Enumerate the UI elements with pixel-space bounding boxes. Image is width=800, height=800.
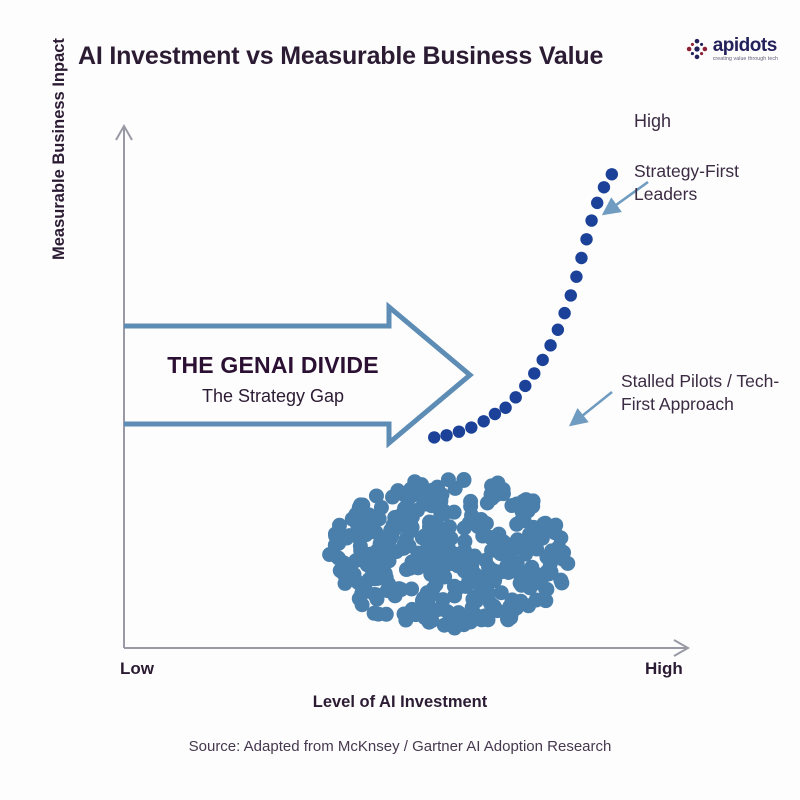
data-point [331, 528, 346, 543]
data-point [518, 547, 533, 562]
data-point [502, 538, 517, 553]
data-point [408, 557, 423, 572]
data-point [333, 563, 348, 578]
data-point [436, 550, 451, 565]
data-point [332, 518, 347, 533]
data-point [510, 532, 525, 547]
data-point [487, 484, 502, 499]
x-axis-title: Level of AI Investment [0, 693, 800, 712]
data-point [488, 564, 503, 579]
data-point [420, 602, 435, 617]
data-point [424, 585, 439, 600]
data-point [399, 562, 414, 577]
data-point [554, 575, 569, 590]
data-point [447, 505, 462, 520]
data-point [349, 507, 364, 522]
data-point [514, 512, 529, 527]
data-point [388, 521, 403, 536]
data-point [353, 497, 368, 512]
data-point [403, 523, 418, 538]
data-point [380, 538, 395, 553]
data-point [452, 550, 467, 565]
data-point [447, 621, 462, 636]
data-point [496, 534, 511, 549]
data-point [348, 553, 363, 568]
data-point [414, 477, 429, 492]
data-point [383, 523, 398, 538]
data-point [471, 519, 486, 534]
data-point [598, 181, 610, 193]
data-point [430, 486, 445, 501]
data-point [540, 564, 555, 579]
data-point [350, 518, 365, 533]
data-point [480, 590, 495, 605]
data-point [433, 493, 448, 508]
data-point [331, 536, 346, 551]
data-point [517, 513, 532, 528]
data-point [536, 354, 548, 366]
data-point [489, 487, 504, 502]
data-point [487, 573, 502, 588]
data-point [397, 501, 412, 516]
data-point [506, 593, 521, 608]
data-point [461, 575, 476, 590]
data-point [483, 563, 498, 578]
data-point [512, 564, 527, 579]
data-point [403, 512, 418, 527]
banner-subtitle: The Strategy Gap [148, 386, 398, 407]
logo-tagline: creating value through tech [713, 57, 778, 62]
data-point [392, 509, 407, 524]
data-point [464, 559, 479, 574]
data-point [448, 555, 463, 570]
data-point [381, 553, 396, 568]
data-point [466, 573, 481, 588]
data-point [362, 572, 377, 587]
data-point [493, 535, 508, 550]
data-point [510, 537, 525, 552]
data-point [338, 576, 353, 591]
data-point [346, 570, 361, 585]
data-point [459, 548, 474, 563]
data-point [428, 548, 443, 563]
annotation-stalled-pilots: Stalled Pilots / Tech-First Approach [621, 370, 796, 416]
data-point [504, 498, 519, 513]
data-point [388, 588, 403, 603]
data-point [339, 531, 354, 546]
x-axis-tick-low: Low [120, 659, 154, 679]
data-point [513, 576, 528, 591]
data-point [504, 606, 519, 621]
data-point [538, 582, 553, 597]
data-point [523, 580, 538, 595]
data-point [328, 528, 343, 543]
data-point [437, 569, 452, 584]
data-point [496, 482, 511, 497]
data-point [500, 612, 515, 627]
data-point [424, 613, 439, 628]
data-point [404, 581, 419, 596]
data-point [410, 546, 425, 561]
data-point [487, 599, 502, 614]
data-point [422, 515, 437, 530]
data-point [535, 521, 550, 536]
data-point [437, 506, 452, 521]
data-point [435, 553, 450, 568]
data-point [422, 519, 437, 534]
data-point [585, 214, 597, 226]
brand-logo: apidots creating value through tech [686, 36, 778, 62]
data-point [367, 606, 382, 621]
data-point [395, 514, 410, 529]
data-point [355, 498, 370, 513]
data-point [478, 553, 493, 568]
data-point [493, 565, 508, 580]
data-point [337, 555, 352, 570]
data-point [426, 581, 441, 596]
data-point [447, 588, 462, 603]
data-point [428, 577, 443, 592]
data-point [385, 490, 400, 505]
data-point [543, 556, 558, 571]
data-point [403, 489, 418, 504]
data-point [512, 596, 527, 611]
data-point [397, 606, 412, 621]
data-point [399, 531, 414, 546]
data-point [431, 526, 446, 541]
data-point [420, 487, 435, 502]
data-point [425, 483, 440, 498]
data-point [424, 560, 439, 575]
data-point [411, 548, 426, 563]
y-axis-tick-high: High [634, 111, 671, 132]
data-point [477, 415, 489, 427]
data-point [456, 473, 471, 488]
data-point [526, 493, 541, 508]
data-point [463, 494, 478, 509]
data-point [378, 566, 393, 581]
data-point [455, 549, 470, 564]
data-point [539, 550, 554, 565]
data-point [502, 558, 517, 573]
data-point [345, 571, 360, 586]
data-point [448, 612, 463, 627]
data-point [544, 543, 559, 558]
data-point [370, 571, 385, 586]
data-point [417, 494, 432, 509]
data-point [448, 547, 463, 562]
data-point [402, 522, 417, 537]
data-point [467, 590, 482, 605]
data-point [433, 543, 448, 558]
data-point [502, 599, 517, 614]
data-point [359, 584, 374, 599]
data-point [496, 486, 511, 501]
data-point [440, 429, 452, 441]
data-point [473, 582, 488, 597]
data-point [553, 530, 568, 545]
data-point [436, 503, 451, 518]
data-point [419, 547, 434, 562]
data-point [555, 552, 570, 567]
data-point [539, 582, 554, 597]
data-point [461, 571, 476, 586]
data-point [515, 504, 530, 519]
data-point [373, 536, 388, 551]
data-point [480, 584, 495, 599]
data-point [547, 545, 562, 560]
data-point [508, 599, 523, 614]
data-point [525, 569, 540, 584]
data-point [490, 603, 505, 618]
data-point [526, 520, 541, 535]
data-point [403, 606, 418, 621]
data-point [420, 585, 435, 600]
data-point [415, 546, 430, 561]
data-point [481, 567, 496, 582]
data-point [367, 571, 382, 586]
data-point [459, 579, 474, 594]
data-point [525, 529, 540, 544]
data-point [435, 536, 450, 551]
data-point [431, 602, 446, 617]
data-point [551, 540, 566, 555]
data-point [372, 540, 387, 555]
data-point [565, 289, 577, 301]
data-point [353, 539, 368, 554]
data-point [369, 587, 384, 602]
data-point [516, 507, 531, 522]
data-point [440, 604, 455, 619]
data-point [417, 492, 432, 507]
data-point [405, 520, 420, 535]
data-point [322, 547, 337, 562]
data-point [414, 480, 429, 495]
data-point [345, 512, 360, 527]
data-point [509, 601, 524, 616]
data-point [523, 571, 538, 586]
annotation-strategy-first-leaders: Strategy-First Leaders [634, 160, 794, 206]
data-point [505, 592, 520, 607]
data-point [384, 529, 399, 544]
data-point [417, 528, 432, 543]
y-axis-title: Measurable Business Inpact [50, 0, 69, 260]
data-point [347, 567, 362, 582]
data-point [534, 576, 549, 591]
data-point [404, 503, 419, 518]
data-point [380, 548, 395, 563]
data-point [490, 475, 505, 490]
data-point [370, 543, 385, 558]
data-point [467, 566, 482, 581]
data-point [541, 566, 556, 581]
data-point [394, 582, 409, 597]
data-point [430, 480, 445, 495]
data-point [351, 575, 366, 590]
data-point [430, 482, 445, 497]
data-point [495, 545, 510, 560]
data-point [401, 518, 416, 533]
data-point [472, 577, 487, 592]
data-point [380, 551, 395, 566]
data-point [407, 474, 422, 489]
data-point [374, 500, 389, 515]
data-point [415, 530, 430, 545]
data-point [456, 472, 471, 487]
data-point [474, 512, 489, 527]
data-point [463, 614, 478, 629]
data-point [438, 558, 453, 573]
data-point [528, 367, 540, 379]
data-point [421, 592, 436, 607]
data-point [475, 529, 490, 544]
data-point [381, 576, 396, 591]
data-point [380, 529, 395, 544]
data-point [524, 560, 539, 575]
logo-text-wrap: apidots creating value through tech [713, 36, 778, 62]
data-point [575, 252, 587, 264]
data-point [434, 487, 449, 502]
data-point [427, 535, 442, 550]
data-point [359, 527, 374, 542]
data-point [410, 554, 425, 569]
source-note: Source: Adapted from McKnsey / Gartner A… [0, 738, 800, 755]
data-point [476, 515, 491, 530]
data-point [429, 482, 444, 497]
data-point [416, 591, 431, 606]
data-point [367, 587, 382, 602]
data-point [445, 556, 460, 571]
data-point [495, 485, 510, 500]
data-point [397, 488, 412, 503]
data-point [450, 558, 465, 573]
data-point [526, 520, 541, 535]
data-point [474, 570, 489, 585]
data-point [438, 529, 453, 544]
data-point [398, 613, 413, 628]
data-point [479, 516, 494, 531]
data-point [403, 482, 418, 497]
data-point [465, 604, 480, 619]
data-point [353, 519, 368, 534]
data-point [406, 554, 421, 569]
data-point [499, 402, 511, 414]
data-point [457, 534, 472, 549]
data-point [352, 591, 367, 606]
data-point [462, 515, 477, 530]
data-point [530, 567, 545, 582]
data-point [387, 510, 402, 525]
data-point [411, 560, 426, 575]
data-point [389, 516, 404, 531]
data-point [355, 597, 370, 612]
data-point [538, 516, 553, 531]
data-point [415, 593, 430, 608]
data-point [354, 550, 369, 565]
data-point [464, 508, 479, 523]
data-point [521, 504, 536, 519]
data-point [483, 596, 498, 611]
data-point [423, 546, 438, 561]
data-point [374, 559, 389, 574]
data-point [401, 538, 416, 553]
data-point [483, 530, 498, 545]
data-point [400, 486, 415, 501]
data-point [547, 525, 562, 540]
data-point [402, 504, 417, 519]
data-point [417, 610, 432, 625]
data-point [558, 307, 570, 319]
data-point [405, 602, 420, 617]
data-point [481, 560, 496, 575]
data-point [331, 530, 346, 545]
data-point [521, 598, 536, 613]
data-point [448, 481, 463, 496]
data-point [444, 607, 459, 622]
data-point [529, 536, 544, 551]
data-point [352, 500, 367, 515]
data-point [485, 491, 500, 506]
data-point [452, 555, 467, 570]
data-point [478, 608, 493, 623]
data-point [451, 605, 466, 620]
data-point [456, 617, 471, 632]
data-point [354, 529, 369, 544]
data-point [474, 583, 489, 598]
data-point [477, 570, 492, 585]
data-point [552, 324, 564, 336]
data-point [369, 592, 384, 607]
data-point [484, 478, 499, 493]
data-point [513, 567, 528, 582]
data-point [371, 607, 386, 622]
data-point [497, 537, 512, 552]
data-point [437, 618, 452, 633]
data-point [534, 524, 549, 539]
data-point [528, 568, 543, 583]
data-point [513, 594, 528, 609]
data-point [430, 518, 445, 533]
data-point [451, 548, 466, 563]
data-point [548, 518, 563, 533]
data-point [371, 544, 386, 559]
data-point [553, 573, 568, 588]
x-axis-tick-high: High [645, 659, 683, 679]
logo-wordmark: apidots [713, 36, 778, 55]
data-point [516, 494, 531, 509]
data-point [493, 546, 508, 561]
data-point [389, 544, 404, 559]
data-point [410, 503, 425, 518]
data-point [415, 483, 430, 498]
data-point [503, 554, 518, 569]
data-point [524, 533, 539, 548]
data-point [360, 557, 375, 572]
data-point [491, 527, 506, 542]
data-point [351, 529, 366, 544]
data-point [410, 607, 425, 622]
data-point [469, 593, 484, 608]
data-point [379, 607, 394, 622]
data-point [536, 516, 551, 531]
data-point [465, 592, 480, 607]
data-point [570, 271, 582, 283]
data-point [368, 525, 383, 540]
data-point [400, 499, 415, 514]
data-point [353, 513, 368, 528]
data-point [342, 528, 357, 543]
data-point [420, 538, 435, 553]
